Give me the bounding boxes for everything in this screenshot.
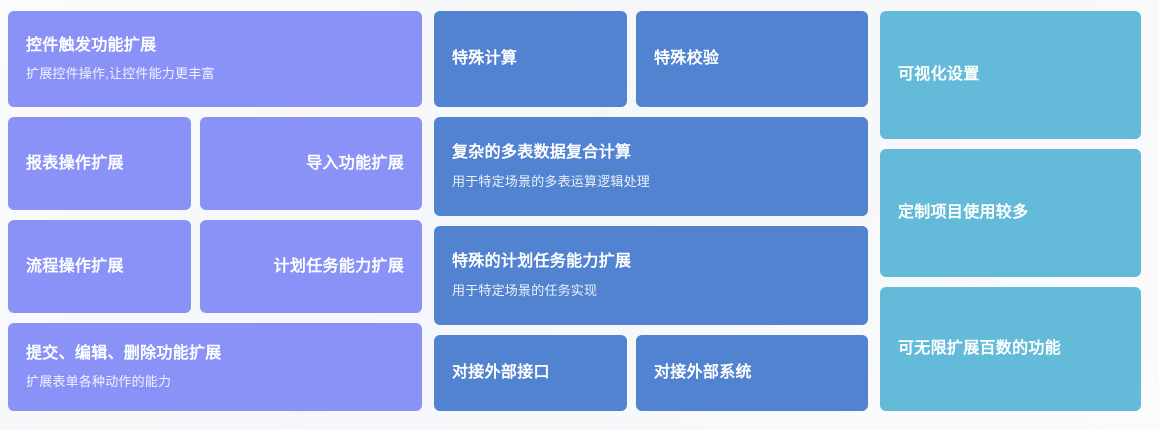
middle-column-row-1: 特殊计算 特殊校验 [434, 11, 868, 107]
card-title: 对接外部接口 [452, 362, 550, 384]
card-title: 报表操作扩展 [26, 153, 124, 175]
card-scheduled-task-capability-extension[interactable]: 计划任务能力扩展 [200, 220, 422, 313]
left-column-row-1: 报表操作扩展 导入功能扩展 [8, 117, 422, 210]
card-title: 定制项目使用较多 [898, 202, 1028, 224]
card-process-operation-extension[interactable]: 流程操作扩展 [8, 220, 191, 313]
card-title: 可视化设置 [898, 64, 980, 86]
card-subtitle: 扩展表单各种动作的能力 [26, 373, 171, 391]
card-title: 可无限扩展百数的功能 [898, 338, 1061, 360]
card-special-scheduled-task-capability-extension[interactable]: 特殊的计划任务能力扩展 用于特定场景的任务实现 [434, 226, 868, 325]
card-title: 导入功能扩展 [306, 153, 404, 175]
card-report-operation-extension[interactable]: 报表操作扩展 [8, 117, 191, 210]
card-subtitle: 用于特定场景的多表运算逻辑处理 [452, 173, 650, 191]
card-title: 流程操作扩展 [26, 256, 124, 278]
feature-card-board: 控件触发功能扩展 扩展控件操作,让控件能力更丰富 报表操作扩展 导入功能扩展 流… [0, 0, 1159, 430]
card-subtitle: 用于特定场景的任务实现 [452, 282, 597, 300]
middle-column: 特殊计算 特殊校验 复杂的多表数据复合计算 用于特定场景的多表运算逻辑处理 特殊… [434, 11, 868, 411]
card-title: 对接外部系统 [654, 362, 752, 384]
right-column: 可视化设置 定制项目使用较多 可无限扩展百数的功能 [880, 11, 1141, 411]
card-title: 特殊校验 [654, 48, 719, 70]
card-special-calculation[interactable]: 特殊计算 [434, 11, 627, 107]
card-visual-configuration[interactable]: 可视化设置 [880, 11, 1141, 139]
card-unlimited-hundreds-functions[interactable]: 可无限扩展百数的功能 [880, 287, 1141, 411]
card-title: 特殊计算 [452, 48, 517, 70]
card-title: 控件触发功能扩展 [26, 35, 156, 57]
card-title: 复杂的多表数据复合计算 [452, 142, 631, 164]
card-special-validation[interactable]: 特殊校验 [636, 11, 868, 107]
left-column-row-2: 流程操作扩展 计划任务能力扩展 [8, 220, 422, 313]
card-import-function-extension[interactable]: 导入功能扩展 [200, 117, 422, 210]
middle-column-row-2: 对接外部接口 对接外部系统 [434, 335, 868, 411]
card-complex-multi-table-composite-calculation[interactable]: 复杂的多表数据复合计算 用于特定场景的多表运算逻辑处理 [434, 117, 868, 216]
left-column: 控件触发功能扩展 扩展控件操作,让控件能力更丰富 报表操作扩展 导入功能扩展 流… [8, 11, 422, 411]
card-custom-project-usage[interactable]: 定制项目使用较多 [880, 149, 1141, 277]
card-external-interface-integration[interactable]: 对接外部接口 [434, 335, 627, 411]
card-submit-edit-delete-extension[interactable]: 提交、编辑、删除功能扩展 扩展表单各种动作的能力 [8, 323, 422, 411]
card-subtitle: 扩展控件操作,让控件能力更丰富 [26, 65, 215, 83]
card-title: 计划任务能力扩展 [274, 256, 404, 278]
card-title: 特殊的计划任务能力扩展 [452, 251, 631, 273]
card-title: 提交、编辑、删除功能扩展 [26, 343, 222, 365]
card-widget-trigger-extension[interactable]: 控件触发功能扩展 扩展控件操作,让控件能力更丰富 [8, 11, 422, 107]
card-external-system-integration[interactable]: 对接外部系统 [636, 335, 868, 411]
